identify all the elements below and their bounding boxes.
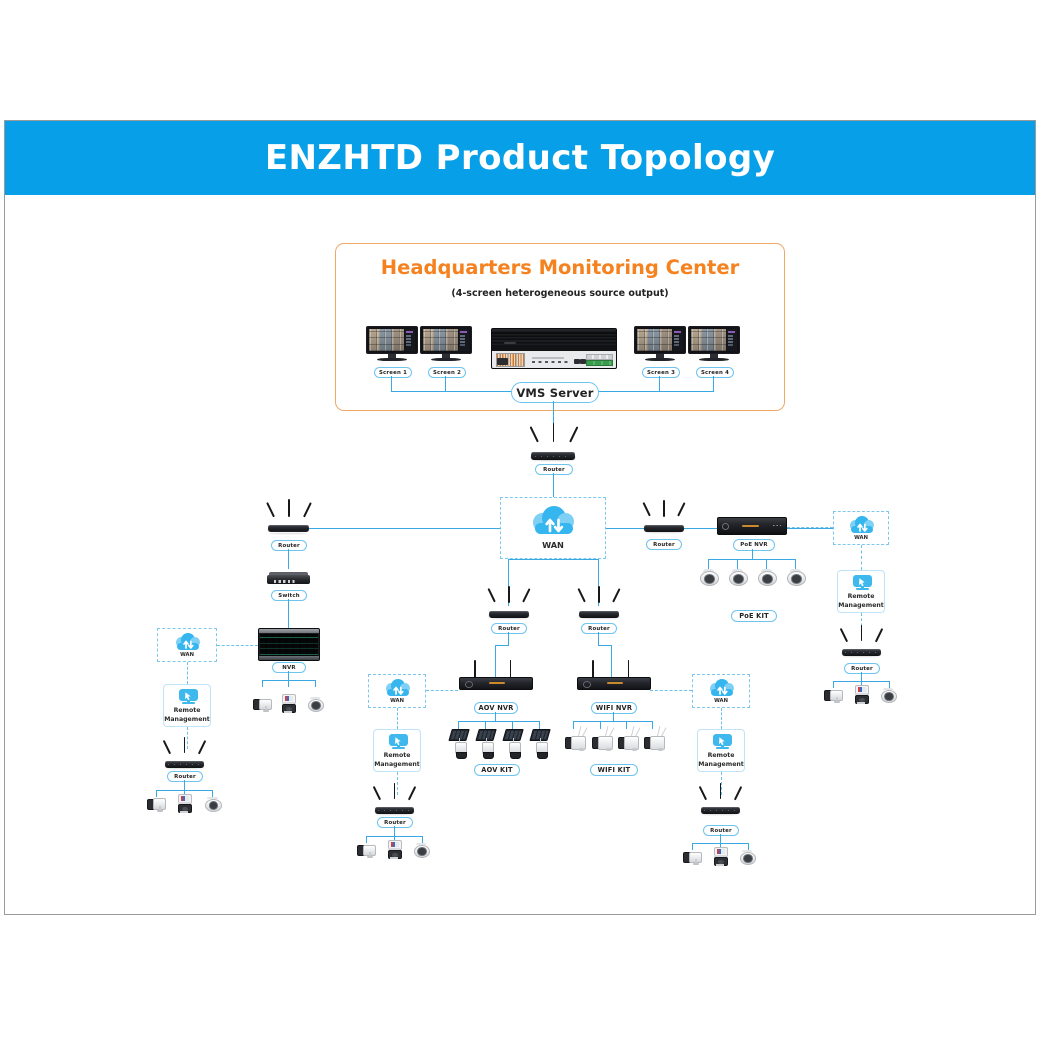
link-wfkit-1 bbox=[573, 721, 574, 729]
bullet-camera-icon bbox=[147, 796, 166, 812]
turret-camera-icon bbox=[880, 688, 896, 703]
solar-camera-icon bbox=[450, 729, 472, 758]
aov-wan-box: WAN bbox=[368, 674, 426, 708]
left-remote-box: Remote Management bbox=[163, 684, 211, 727]
headquarters-subtitle: (4-screen heterogeneous source output) bbox=[336, 288, 784, 299]
link-prr-bus-v bbox=[861, 672, 862, 681]
turret-camera-icon bbox=[699, 569, 718, 586]
poe-wan-label: WAN bbox=[834, 535, 888, 541]
link-wfr-a bbox=[598, 632, 599, 645]
link-screen1 bbox=[391, 376, 392, 391]
link-poekit-1 bbox=[708, 559, 709, 569]
left-router-device bbox=[265, 512, 312, 536]
link-poekit-h bbox=[708, 559, 796, 560]
wifi-bullet-camera-icon bbox=[592, 732, 616, 752]
ptz-camera-icon bbox=[176, 794, 192, 813]
left-remote-label: Remote Management bbox=[164, 706, 210, 724]
wifi-kit-label: WIFI KIT bbox=[590, 764, 638, 776]
remote-management-icon bbox=[713, 734, 732, 750]
poe-remote-label: Remote Management bbox=[838, 592, 884, 610]
link-poe-wan-remote bbox=[861, 545, 862, 570]
link-arr-c1 bbox=[366, 836, 367, 843]
bullet-camera-icon bbox=[253, 697, 272, 712]
link-aovkit-4 bbox=[539, 721, 540, 729]
link-aov-wan-nvr bbox=[426, 690, 458, 691]
link-arr-bus-v bbox=[394, 826, 395, 836]
trunk-left bbox=[288, 528, 500, 529]
wifi-bullet-camera-icon bbox=[565, 732, 589, 752]
solar-camera-icon bbox=[477, 729, 499, 758]
poe-router-label: Router bbox=[646, 539, 682, 550]
bullet-camera-icon bbox=[357, 843, 376, 858]
link-prr-c3 bbox=[889, 681, 890, 688]
link-wfkit-2 bbox=[600, 721, 601, 729]
remote-management-icon bbox=[179, 689, 198, 705]
aov-router-device bbox=[486, 598, 531, 621]
link-poe-nvr-wan bbox=[787, 527, 833, 528]
link-lrr-bus-v bbox=[184, 780, 185, 790]
poe-remote-router-device bbox=[839, 637, 883, 659]
aov-nvr-device bbox=[458, 660, 532, 692]
core-router-device bbox=[528, 437, 578, 463]
screen-3-label: Screen 3 bbox=[642, 367, 680, 378]
solar-camera-icon bbox=[531, 729, 553, 758]
turret-camera-icon bbox=[739, 850, 755, 865]
turret-camera-icon bbox=[204, 797, 221, 812]
wifi-remote-router-device bbox=[698, 795, 742, 817]
link-wfkit-v bbox=[613, 712, 614, 721]
trunk-down-bus bbox=[508, 559, 598, 560]
wifi-router-device bbox=[576, 598, 621, 621]
link-left-remote-router bbox=[187, 727, 188, 749]
monitor-screen-2 bbox=[420, 326, 472, 364]
link-screen3 bbox=[659, 376, 660, 391]
aov-remote-label: Remote Management bbox=[374, 751, 420, 769]
core-wan-box: WAN bbox=[500, 497, 606, 559]
remote-management-icon bbox=[853, 575, 872, 591]
monitor-display bbox=[366, 326, 418, 354]
link-router-wan bbox=[553, 473, 554, 497]
bullet-camera-icon bbox=[683, 850, 702, 865]
link-prr-c1 bbox=[833, 681, 834, 688]
aov-remote-router-device bbox=[372, 795, 416, 817]
cloud-upload-download-icon bbox=[386, 679, 410, 697]
link-wfkit-4 bbox=[652, 721, 653, 729]
link-wrr-c3 bbox=[748, 843, 749, 850]
link-wifi-wan-nvr bbox=[650, 690, 692, 691]
cloud-upload-download-icon bbox=[710, 679, 734, 697]
left-wan-label: WAN bbox=[158, 652, 216, 658]
link-aov-remote-router bbox=[397, 772, 398, 795]
left-remote-router-device bbox=[162, 749, 206, 771]
turret-camera-icon bbox=[728, 569, 747, 586]
wifi-wan-label: WAN bbox=[693, 698, 749, 704]
link-nvr-c3 bbox=[315, 680, 316, 687]
link-arr-c3 bbox=[422, 836, 423, 843]
ptz-camera-icon bbox=[853, 685, 869, 704]
link-wifi-remote-router bbox=[721, 772, 722, 795]
poe-nvr-label: PoE NVR bbox=[733, 539, 775, 551]
link-aov-wan-remote bbox=[397, 708, 398, 729]
link-aovkit-2 bbox=[485, 721, 486, 729]
monitor-screen-3 bbox=[634, 326, 686, 364]
monitor-display bbox=[420, 326, 472, 354]
link-left-wan-remote bbox=[187, 662, 188, 684]
link-wrr-bus-v bbox=[720, 834, 721, 843]
link-aovkit-v bbox=[495, 712, 496, 721]
vms-server-device bbox=[491, 328, 617, 369]
monitor-display bbox=[634, 326, 686, 354]
switch-device bbox=[265, 568, 312, 589]
link-nvr-c2 bbox=[288, 680, 289, 687]
link-wfkit-3 bbox=[626, 721, 627, 729]
wifi-remote-label: Remote Management bbox=[698, 751, 744, 769]
link-switch-nvr bbox=[288, 599, 289, 628]
ptz-camera-icon bbox=[712, 847, 728, 866]
link-left-wan-nvr bbox=[217, 645, 258, 646]
wifi-bullet-camera-icon bbox=[618, 732, 642, 752]
link-aovr-b bbox=[495, 645, 509, 646]
link-screen2 bbox=[445, 376, 446, 391]
cloud-upload-download-icon bbox=[533, 506, 575, 536]
core-wan-label: WAN bbox=[501, 540, 605, 550]
link-right-bus bbox=[596, 391, 714, 392]
topology-page: ENZHTD Product Topology Headquarters Mon… bbox=[0, 0, 1041, 1041]
aov-kit-label: AOV KIT bbox=[474, 764, 520, 776]
turret-camera-icon bbox=[307, 697, 323, 712]
wifi-remote-box: Remote Management bbox=[697, 729, 745, 772]
screen-1-label: Screen 1 bbox=[374, 367, 412, 378]
link-left-router-switch bbox=[288, 549, 289, 569]
vms-server-label: VMS Server bbox=[511, 382, 599, 403]
link-poekit-4 bbox=[795, 559, 796, 569]
poe-router-device bbox=[641, 512, 686, 535]
wifi-nvr-device bbox=[576, 660, 650, 692]
cloud-upload-download-icon bbox=[850, 516, 874, 534]
aov-wan-label: WAN bbox=[369, 698, 425, 704]
link-wfkit-h bbox=[573, 721, 653, 722]
monitor-display bbox=[688, 326, 740, 354]
link-wrr-c1 bbox=[692, 843, 693, 850]
poe-remote-box: Remote Management bbox=[837, 570, 885, 613]
wifi-bullet-camera-icon bbox=[644, 732, 668, 752]
poe-nvr-device bbox=[717, 517, 787, 535]
link-lrr-c3 bbox=[212, 790, 213, 797]
turret-camera-icon bbox=[413, 843, 429, 858]
wifi-wan-box: WAN bbox=[692, 674, 750, 708]
remote-management-icon bbox=[389, 734, 408, 750]
link-left-bus bbox=[391, 391, 512, 392]
link-aovkit-1 bbox=[458, 721, 459, 729]
poe-kit-label: PoE KIT bbox=[731, 610, 777, 622]
link-nvr-bus-v bbox=[288, 671, 289, 680]
poe-wan-box: WAN bbox=[833, 511, 889, 545]
link-poekit-v bbox=[752, 549, 753, 559]
nvr-rack-device bbox=[258, 628, 320, 661]
turret-camera-icon bbox=[786, 569, 805, 586]
link-poekit-3 bbox=[766, 559, 767, 569]
bullet-camera-icon bbox=[824, 688, 843, 703]
aov-remote-box: Remote Management bbox=[373, 729, 421, 772]
link-aovkit-h bbox=[458, 721, 540, 722]
headquarters-title: Headquarters Monitoring Center bbox=[336, 256, 784, 279]
link-wfr-b bbox=[598, 645, 612, 646]
screen-4-label: Screen 4 bbox=[696, 367, 734, 378]
link-poekit-2 bbox=[737, 559, 738, 569]
page-title: ENZHTD Product Topology bbox=[265, 138, 775, 178]
solar-camera-icon bbox=[504, 729, 526, 758]
link-aovr-a bbox=[508, 632, 509, 645]
ptz-camera-icon bbox=[280, 694, 296, 713]
link-aovkit-3 bbox=[512, 721, 513, 729]
link-wifi-wan-remote bbox=[721, 708, 722, 729]
screen-2-label: Screen 2 bbox=[428, 367, 466, 378]
monitor-screen-4 bbox=[688, 326, 740, 364]
ptz-camera-icon bbox=[386, 840, 402, 859]
link-screen4 bbox=[713, 376, 714, 391]
left-wan-box: WAN bbox=[157, 628, 217, 662]
monitor-screen-1 bbox=[366, 326, 418, 364]
link-nvr-c1 bbox=[262, 680, 263, 687]
turret-camera-icon bbox=[757, 569, 776, 586]
cloud-upload-download-icon bbox=[176, 633, 200, 651]
page-title-bar: ENZHTD Product Topology bbox=[5, 121, 1035, 195]
